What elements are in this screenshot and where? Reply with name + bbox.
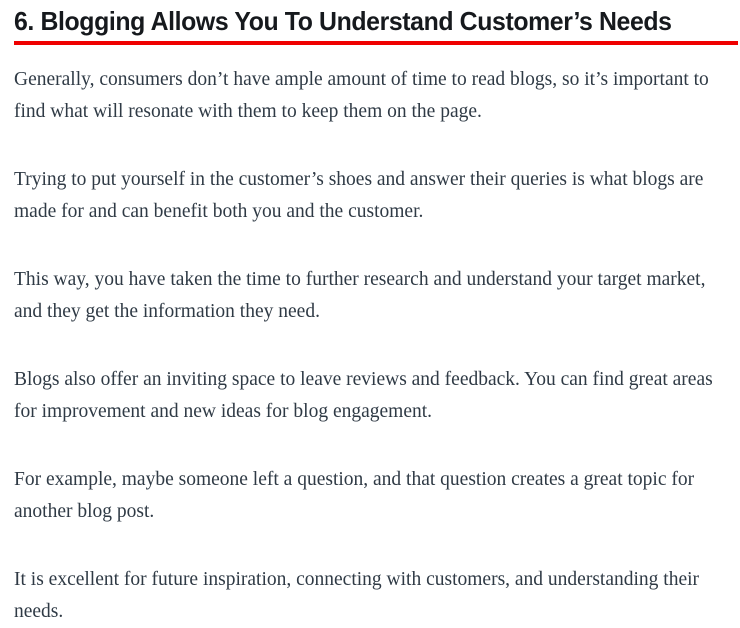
body-paragraph: It is excellent for future inspiration, … xyxy=(14,564,734,628)
body-paragraph: Generally, consumers don’t have ample am… xyxy=(14,64,734,128)
body-paragraph: This way, you have taken the time to fur… xyxy=(14,264,734,328)
heading-underline-rule xyxy=(14,41,738,45)
body-paragraph: Trying to put yourself in the customer’s… xyxy=(14,164,734,228)
body-paragraph: Blogs also offer an inviting space to le… xyxy=(14,364,734,428)
section-heading: 6. Blogging Allows You To Understand Cus… xyxy=(14,6,705,41)
article-body: Generally, consumers don’t have ample am… xyxy=(0,64,740,628)
body-paragraph: For example, maybe someone left a questi… xyxy=(14,464,734,528)
section-heading-container: 6. Blogging Allows You To Understand Cus… xyxy=(0,0,740,41)
article-section: 6. Blogging Allows You To Understand Cus… xyxy=(0,0,740,616)
